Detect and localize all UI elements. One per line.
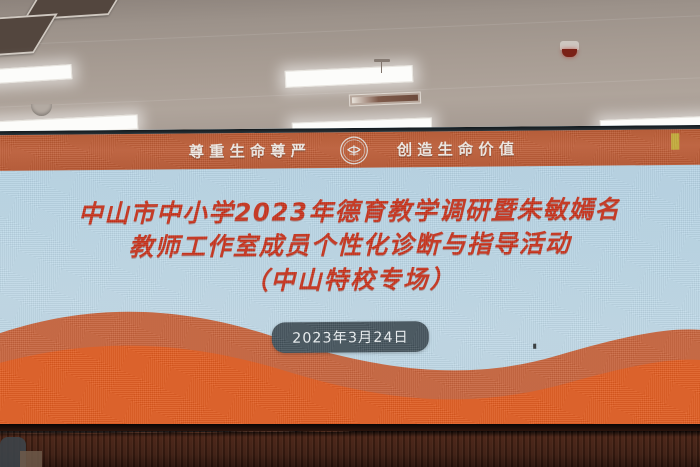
event-date-badge: 2023年3月24日 <box>272 321 430 353</box>
smoke-detector-icon <box>560 41 579 50</box>
banner-slogan-right: 创造生命价值 <box>397 138 520 160</box>
led-display-screen: 尊重生命尊严 创造生命价值 中山市中小学2023年德育教学调研暨朱敏嫣名 教师工… <box>0 125 700 434</box>
banner-header-band: 尊重生命尊严 创造生命价值 <box>0 129 700 171</box>
screen-dust-speck <box>533 344 536 349</box>
ceiling-fixture-housing <box>349 91 421 106</box>
stage-front-panel <box>0 424 700 467</box>
ceiling-mount-rod <box>381 61 382 73</box>
event-title-block: 中山市中小学2023年德育教学调研暨朱敏嫣名 教师工作室成员个性化诊断与指导活动… <box>0 192 700 300</box>
event-title-line-3: （中山特校专场） <box>0 260 700 301</box>
room-photo-scene: 尊重生命尊严 创造生命价值 中山市中小学2023年德育教学调研暨朱敏嫣名 教师工… <box>0 0 700 467</box>
ceiling-light-panel <box>0 64 72 85</box>
ceiling-light-panel <box>285 65 414 88</box>
banner-slogan-left: 尊重生命尊严 <box>189 140 312 162</box>
foreground-object <box>20 451 42 467</box>
ceiling <box>0 0 700 136</box>
screen-pixel-artifact <box>671 133 679 149</box>
school-crest-emblem <box>339 135 369 165</box>
event-title-line-1: 中山市中小学2023年德育教学调研暨朱敏嫣名 <box>0 192 700 231</box>
ceiling-seam <box>0 9 700 51</box>
decorative-wave-graphic <box>0 287 700 434</box>
ceiling-speaker-icon <box>31 104 52 116</box>
recessed-ceiling-well <box>0 13 58 58</box>
stage-top-shadow <box>0 424 700 431</box>
